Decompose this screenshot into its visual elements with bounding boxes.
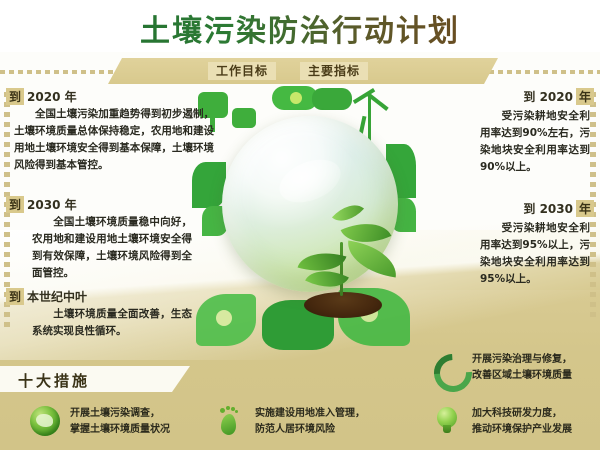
indicator-date-2020: 到 2020年 xyxy=(523,88,594,105)
indicator-date-2020-suffix: 年 xyxy=(576,88,594,105)
goal-date-2030-prefix: 到 xyxy=(6,196,24,213)
measure-item-2-line1: 实施建设用地准入管理， xyxy=(255,406,365,422)
footprint-sole xyxy=(221,414,236,435)
goal-date-midcentury-prefix: 到 xyxy=(6,288,24,305)
indicator-date-2030-prefix: 到 xyxy=(523,202,535,216)
measure-item-3-text: 加大科技研发力度， 推动环境保护产业发展 xyxy=(472,406,572,438)
footprint-toe-4 xyxy=(235,410,238,413)
goal-date-2030-suffix: 年 xyxy=(65,198,77,212)
vine-dot-icon-1 xyxy=(216,310,232,326)
goal-text-midcentury: 土壤环境质量全面改善，生态系统实现良性循环。 xyxy=(32,306,192,340)
goal-date-2020-suffix: 年 xyxy=(65,90,77,104)
indicator-text-2030: 受污染耕地安全利用率达到95%以上，污染地块安全利用率达到95%以上。 xyxy=(480,220,590,288)
goal-date-2020-prefix: 到 xyxy=(6,88,24,105)
measure-item-1: 开展土壤污染调查， 掌握土壤环境质量状况 xyxy=(30,406,60,436)
goal-date-2030-value: 2030 xyxy=(27,198,60,212)
measure-item-4-text: 开展污染治理与修复， 改善区域土壤环境质量 xyxy=(472,352,572,384)
header-label-goals: 工作目标 xyxy=(208,62,276,80)
goal-text-midcentury-body: 土壤环境质量全面改善，生态系统实现良性循环。 xyxy=(32,308,192,337)
goal-date-2020-value: 2020 xyxy=(27,90,60,104)
page-title: 土壤污染防治行动计划 xyxy=(0,6,600,50)
soil-mound xyxy=(304,292,382,318)
footprint-icon xyxy=(215,406,245,436)
fruit-dot-icon xyxy=(290,92,302,104)
measure-item-1-text: 开展土壤污染调查， 掌握土壤环境质量状况 xyxy=(70,406,170,438)
measure-item-1-line1: 开展土壤污染调查， xyxy=(70,406,170,422)
indicator-date-2020-prefix: 到 xyxy=(523,90,535,104)
globe-icon xyxy=(30,406,60,436)
goal-text-2030: 全国土壤环境质量稳中向好，农用地和建设用地土壤环境安全得到有效保障，土壤环境风险… xyxy=(32,214,192,282)
indicator-text-2030-body: 受污染耕地安全利用率达到95%以上，污染地块安全利用率达到95%以上。 xyxy=(480,222,590,285)
header-dots-left xyxy=(0,70,120,74)
measure-item-3-line2: 推动环境保护产业发展 xyxy=(472,422,572,438)
footprint-toe-2 xyxy=(226,406,230,410)
measure-item-1-line2: 掌握土壤环境质量状况 xyxy=(70,422,170,438)
tree-silhouette-icon-2 xyxy=(232,108,256,128)
measure-item-3-line1: 加大科技研发力度， xyxy=(472,406,572,422)
glass-sphere xyxy=(222,116,398,292)
goal-date-2020: 到2020 年 xyxy=(6,88,77,105)
seedling-stem xyxy=(340,242,343,296)
indicator-date-2030-value: 2030 xyxy=(540,202,573,216)
footprint-toe-1 xyxy=(220,408,225,413)
goal-date-2030: 到2030 年 xyxy=(6,196,77,213)
recycle-icon xyxy=(432,352,462,382)
foliage-silhouette-icon xyxy=(312,88,352,110)
measure-item-3: 加大科技研发力度， 推动环境保护产业发展 xyxy=(432,406,462,436)
lightbulb-icon xyxy=(432,406,462,436)
goal-date-midcentury: 到本世纪中叶 xyxy=(6,288,87,305)
measure-item-4-line2: 改善区域土壤环境质量 xyxy=(472,368,572,384)
indicator-text-2020-body: 受污染耕地安全利用率达到90%左右，污染地块安全利用率达到90%以上。 xyxy=(480,110,590,173)
goal-text-2020-body: 全国土壤污染加重趋势得到初步遏制，土壤环境质量总体保持稳定，农用地和建设用地土壤… xyxy=(14,108,214,171)
indicator-date-2020-value: 2020 xyxy=(540,90,573,104)
measures-title: 十大措施 xyxy=(18,370,90,391)
indicator-date-2030: 到 2030年 xyxy=(523,200,594,217)
lightbulb-base xyxy=(443,425,451,433)
infographic-poster: 土壤污染防治行动计划 工作目标 主要指标 xyxy=(0,0,600,450)
measure-item-2: 实施建设用地准入管理， 防范人居环境风险 xyxy=(215,406,245,436)
measure-item-4: 开展污染治理与修复， 改善区域土壤环境质量 xyxy=(432,352,462,382)
header-label-indicators: 主要指标 xyxy=(300,62,368,80)
header-dots-right xyxy=(480,70,600,74)
goal-text-2030-body: 全国土壤环境质量稳中向好，农用地和建设用地土壤环境安全得到有效保障，土壤环境风险… xyxy=(32,216,192,279)
measure-item-2-line2: 防范人居环境风险 xyxy=(255,422,365,438)
central-illustration xyxy=(192,86,420,354)
measure-item-4-line1: 开展污染治理与修复， xyxy=(472,352,572,368)
indicator-text-2020: 受污染耕地安全利用率达到90%左右，污染地块安全利用率达到90%以上。 xyxy=(480,108,590,176)
indicator-date-2030-suffix: 年 xyxy=(576,200,594,217)
sphere-highlight xyxy=(273,151,347,210)
goal-date-midcentury-value: 本世纪中叶 xyxy=(27,290,87,304)
goal-text-2020: 全国土壤污染加重趋势得到初步遏制，土壤环境质量总体保持稳定，农用地和建设用地土壤… xyxy=(14,106,214,174)
measure-item-2-text: 实施建设用地准入管理， 防范人居环境风险 xyxy=(255,406,365,438)
